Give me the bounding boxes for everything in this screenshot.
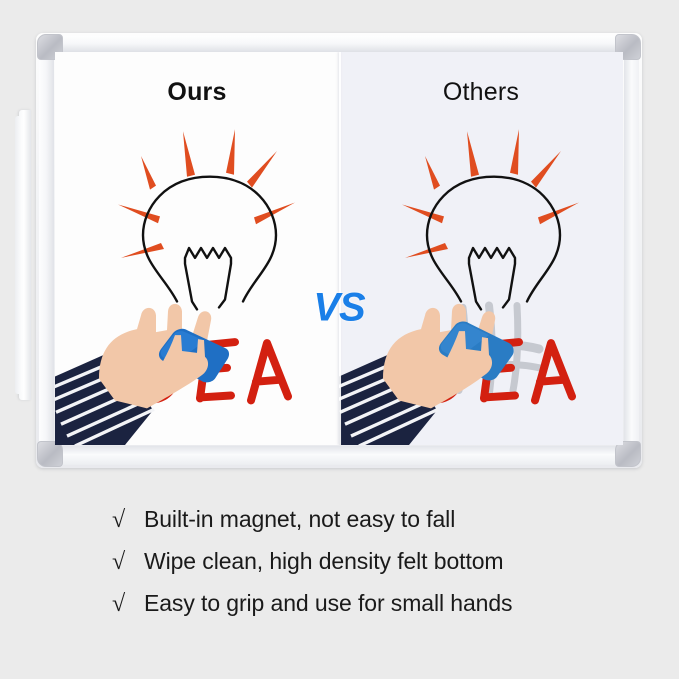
frame-rail-bottom [42,446,636,465]
pen-tray-rail [15,110,37,400]
comparison-panel-others: Others [339,52,623,445]
check-icon: √ [112,592,144,616]
feature-label: Easy to grip and use for small hands [144,590,512,617]
feature-list: √ Built-in magnet, not easy to fall √ Wi… [112,506,612,632]
check-icon: √ [112,508,144,532]
whiteboard-surface: Ours [55,52,623,445]
feature-item: √ Built-in magnet, not easy to fall [112,506,612,548]
feature-label: Built-in magnet, not easy to fall [144,506,455,533]
feature-label: Wipe clean, high density felt bottom [144,548,503,575]
frame-rail-left [39,39,54,462]
hand-with-eraser-ours [55,52,339,445]
panel-divider [339,52,341,445]
whiteboard-figure: Ours [36,33,642,468]
frame-rail-right [624,39,639,462]
check-icon: √ [112,550,144,574]
frame-rail-top [42,36,636,52]
vs-badge: VS [313,286,364,331]
hand-with-eraser-others [339,52,623,445]
comparison-panel-ours: Ours [55,52,339,445]
feature-item: √ Wipe clean, high density felt bottom [112,548,612,590]
pen-tray-lip [15,116,22,394]
feature-item: √ Easy to grip and use for small hands [112,590,612,632]
